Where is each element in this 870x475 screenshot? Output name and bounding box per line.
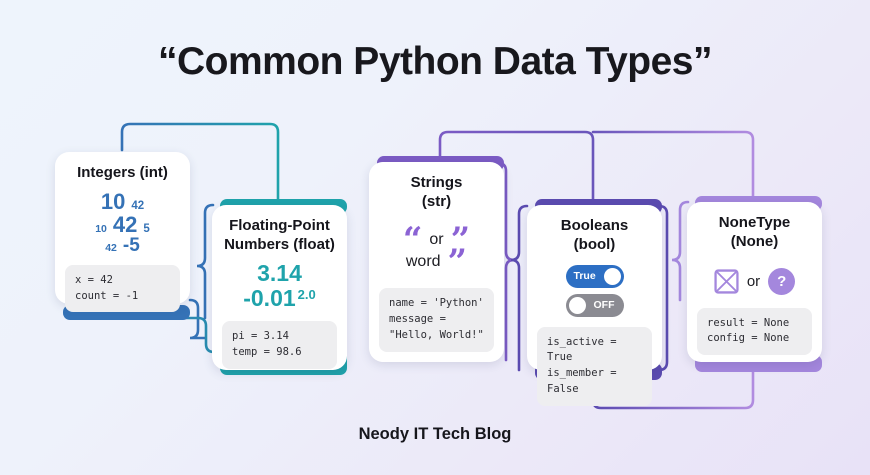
integers-number-cloud: 10 42 10 42 5 42 -5 (95, 190, 150, 256)
infographic-canvas: “Common Python Data Types” (0, 0, 870, 475)
floats-title-line2: Numbers (float) (224, 236, 335, 253)
float-num: 3.14 (257, 261, 302, 286)
floats-title: Floating-Point Numbers (float) (224, 217, 335, 255)
int-num: 10 (101, 190, 125, 213)
card-floats[interactable]: Floating-Point Numbers (float) 3.14 -0.0… (212, 205, 347, 370)
toggle-off-label: OFF (594, 299, 615, 311)
strings-or-label: or (429, 232, 443, 248)
integers-code-snippet: x = 42 count = -1 (65, 265, 180, 313)
booleans-title-line1: Booleans (561, 217, 629, 234)
int-num: -5 (123, 236, 140, 256)
booleans-title: Booleans (bool) (561, 217, 629, 255)
strings-quote-visual: “ or ” word ” (403, 230, 470, 273)
toggle-knob (569, 297, 586, 314)
toggle-true-label: True (574, 270, 596, 282)
nonetype-title-line2: (None) (731, 233, 779, 250)
float-num: -0.01 (243, 286, 295, 311)
strings-title-line1: Strings (411, 174, 463, 191)
nonetype-code-snippet: result = None config = None (697, 308, 812, 356)
card-nonetype[interactable]: NoneType (None) or ? result = None confi… (687, 202, 822, 362)
open-quote-icon: “ (403, 230, 423, 250)
nonetype-title-line1: NoneType (719, 214, 790, 231)
floats-title-line1: Floating-Point (229, 217, 330, 234)
card-integers[interactable]: Integers (int) 10 42 10 42 5 42 -5 x = 4… (55, 152, 190, 304)
booleans-title-line2: (bool) (574, 236, 616, 253)
booleans-code-snippet: is_active = True is_member = False (537, 327, 652, 406)
toggle-true[interactable]: True (566, 265, 624, 288)
float-num: 2.0 (298, 288, 316, 302)
close-quote-icon-2: ” (448, 252, 468, 272)
strings-title: Strings (str) (411, 174, 463, 212)
footer-label: Neody IT Tech Blog (0, 425, 870, 444)
strings-code-snippet: name = 'Python' message = "Hello, World!… (379, 288, 494, 351)
nonetype-title: NoneType (None) (719, 214, 790, 252)
strings-word-label: word (406, 254, 441, 270)
int-num: 42 (113, 213, 137, 236)
booleans-toggle-group: True OFF (566, 265, 624, 317)
nonetype-visual: or ? (714, 268, 795, 295)
strings-title-line2: (str) (422, 193, 451, 210)
empty-box-icon (714, 269, 739, 294)
integers-title: Integers (int) (77, 164, 168, 183)
floats-code-snippet: pi = 3.14 temp = 98.6 (222, 321, 337, 369)
int-num: 42 (131, 200, 144, 212)
int-num: 5 (143, 223, 149, 235)
int-num: 10 (95, 224, 107, 235)
card-strings[interactable]: Strings (str) “ or ” word ” name = 'Pyth… (369, 162, 504, 362)
floats-number-cloud: 3.14 -0.01 2.0 (243, 261, 316, 312)
toggle-knob (604, 268, 621, 285)
int-num: 42 (105, 243, 117, 254)
question-mark-icon: ? (768, 268, 795, 295)
toggle-off[interactable]: OFF (566, 294, 624, 317)
card-booleans[interactable]: Booleans (bool) True OFF is_active = Tru… (527, 205, 662, 370)
nonetype-or-label: or (747, 273, 760, 290)
